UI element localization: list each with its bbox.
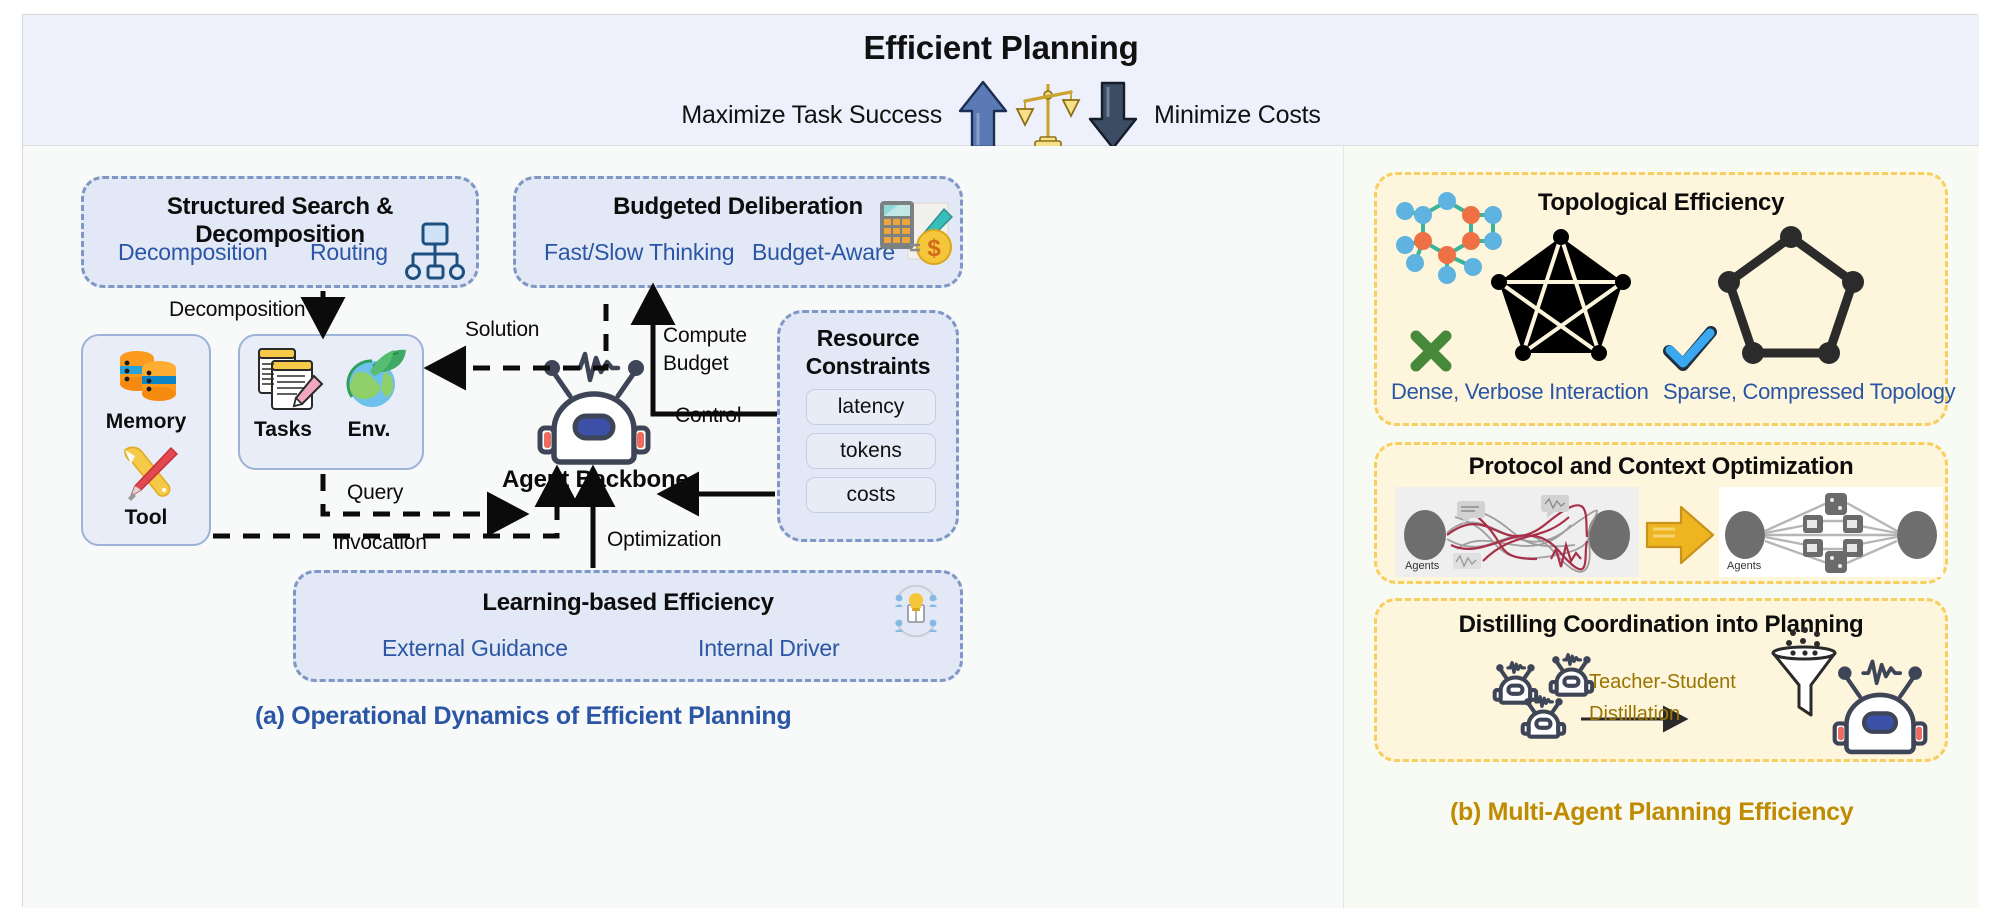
up-arrow-icon xyxy=(956,79,1010,151)
notes-pencil-icon xyxy=(256,346,324,412)
resource-pill-costs[interactable]: costs xyxy=(806,477,936,513)
protocol-context-title: Protocol and Context Optimization xyxy=(1377,453,1945,481)
learning-based-efficiency-box[interactable]: Learning-based Efficiency External Guida… xyxy=(293,570,963,682)
structured-search-sub-decomposition[interactable]: Decomposition xyxy=(118,239,268,266)
pentagon-cycle-graph-icon xyxy=(1721,229,1861,359)
header-objectives-row: Maximize Task Success xyxy=(23,79,1979,151)
right-block-arrow-icon xyxy=(1645,503,1715,567)
caption-panel-a: (a) Operational Dynamics of Efficient Pl… xyxy=(255,702,791,731)
student-robot-icon xyxy=(1815,653,1945,757)
edge-label-invocation: Invocation xyxy=(333,531,427,555)
maximize-task-success-label: Maximize Task Success xyxy=(681,101,942,130)
learning-sub-external-guidance[interactable]: External Guidance xyxy=(382,635,568,662)
svg-text:$: $ xyxy=(927,235,941,262)
structured-search-box[interactable]: Structured Search & Decomposition Decomp… xyxy=(81,176,479,288)
resource-pill-tokens[interactable]: tokens xyxy=(806,433,936,469)
header-band: Efficient Planning Maximize Task Success xyxy=(23,15,1979,146)
header-icon-group xyxy=(956,79,1140,151)
page-title: Efficient Planning xyxy=(23,29,1979,67)
panel-multi-agent-efficiency: Topological Efficiency xyxy=(1343,146,1979,908)
robot-icon xyxy=(528,344,660,468)
distillation-edge-label-line2: Distillation xyxy=(1589,703,1680,726)
structured-search-sub-routing[interactable]: Routing xyxy=(310,239,388,266)
edge-label-query: Query xyxy=(347,481,403,505)
topological-efficiency-card[interactable]: Topological Efficiency xyxy=(1374,172,1948,426)
tasks-env-box[interactable]: Tasks Env. xyxy=(238,334,424,470)
budgeted-deliberation-box[interactable]: Budgeted Deliberation Fast/Slow Thinking… xyxy=(513,176,963,288)
learning-based-efficiency-title: Learning-based Efficiency xyxy=(296,589,960,617)
protocol-left-caption: Agents xyxy=(1405,560,1440,572)
edge-label-solution: Solution xyxy=(465,318,539,342)
resource-constraints-title-line1: Resource xyxy=(780,325,956,352)
resource-pill-latency[interactable]: latency xyxy=(806,389,936,425)
edge-label-control: Control xyxy=(675,404,741,428)
edge-label-compute-budget-line2: Budget xyxy=(663,352,728,376)
globe-leaf-icon xyxy=(340,346,408,412)
resource-constraints-title-line2: Constraints xyxy=(780,353,956,380)
agent-backbone-label: Agent Backbone xyxy=(502,466,689,494)
down-arrow-icon xyxy=(1086,79,1140,151)
sparse-compressed-topology-label: Sparse, Compressed Topology xyxy=(1663,379,1955,405)
balance-scale-icon xyxy=(1016,79,1080,151)
tool-label: Tool xyxy=(83,506,209,530)
lightbulb-learning-icon xyxy=(888,583,944,639)
distillation-edge-label-line1: Teacher-Student xyxy=(1589,671,1736,694)
sitemap-routing-icon xyxy=(404,223,466,281)
protocol-right-caption: Agents xyxy=(1727,560,1762,572)
edge-label-compute-budget-line1: Compute xyxy=(663,324,747,348)
protocol-context-card[interactable]: Protocol and Context Optimization xyxy=(1374,442,1948,584)
complete-graph-k5-icon xyxy=(1491,229,1631,359)
calculator-money-icon: $ xyxy=(878,197,954,271)
database-icon xyxy=(113,346,183,408)
resource-constraints-box[interactable]: Resource Constraints latency tokens cost… xyxy=(777,310,959,542)
dense-verbose-interaction-label: Dense, Verbose Interaction xyxy=(1391,379,1649,405)
cross-mark-icon xyxy=(1409,329,1453,373)
edge-label-optimization: Optimization xyxy=(607,528,721,552)
edge-label-decomposition: Decomposition xyxy=(169,298,305,322)
memory-label: Memory xyxy=(83,410,209,434)
diagram-root: Efficient Planning Maximize Task Success xyxy=(0,0,2000,919)
panel-operational-dynamics: Structured Search & Decomposition Decomp… xyxy=(23,146,1343,908)
distilling-coordination-card[interactable]: Distilling Coordination into Planning xyxy=(1374,598,1948,762)
caption-panel-b: (b) Multi-Agent Planning Efficiency xyxy=(1450,798,1853,827)
dense-communication-illustration: Agents xyxy=(1395,487,1639,577)
robot-icon xyxy=(1495,655,1592,737)
molecule-graph-icon xyxy=(1395,189,1501,289)
budgeted-sub-budget-aware[interactable]: Budget-Aware xyxy=(752,239,895,266)
minimize-costs-label: Minimize Costs xyxy=(1154,101,1321,130)
budgeted-sub-fast-slow[interactable]: Fast/Slow Thinking xyxy=(544,239,734,266)
learning-sub-internal-driver[interactable]: Internal Driver xyxy=(698,635,839,662)
check-mark-icon xyxy=(1665,327,1717,373)
structured-communication-illustration: Agents xyxy=(1719,487,1943,577)
env-label: Env. xyxy=(278,418,460,442)
figure-frame: Efficient Planning Maximize Task Success xyxy=(22,14,1978,907)
wrench-screwdriver-icon xyxy=(115,440,181,502)
